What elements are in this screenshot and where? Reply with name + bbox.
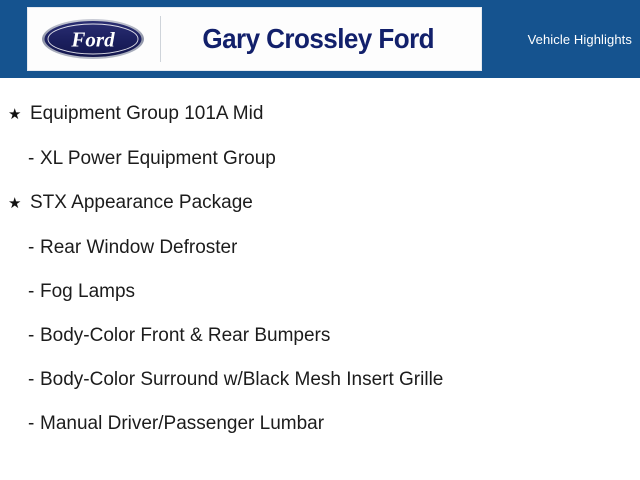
dash-bullet-icon: - [28,235,40,261]
dash-bullet-icon: - [28,323,40,349]
dealer-name: Gary Crossley Ford [172,23,470,55]
highlight-item-label: STX Appearance Package [30,190,253,216]
highlight-item-label: Fog Lamps [40,279,135,305]
dash-bullet-icon: - [28,411,40,437]
brand-logo-card: Ford Gary Crossley Ford [27,7,482,71]
highlight-item: -Body-Color Front & Rear Bumpers [0,314,640,358]
highlight-item: -Rear Window Defroster [0,226,640,270]
dash-bullet-icon: - [28,279,40,305]
highlight-item: ★Equipment Group 101A Mid [0,92,640,137]
star-bullet-icon: ★ [8,102,30,128]
highlight-item-label: Equipment Group 101A Mid [30,101,263,127]
highlight-item: -Fog Lamps [0,270,640,314]
highlight-item-label: Manual Driver/Passenger Lumbar [40,411,324,437]
ford-oval-logo-icon: Ford [28,18,158,60]
dash-bullet-icon: - [28,367,40,393]
highlights-content: ★Equipment Group 101A Mid-XL Power Equip… [0,78,640,446]
highlight-item-label: Body-Color Front & Rear Bumpers [40,323,330,349]
page-header: Ford Gary Crossley Ford Vehicle Highligh… [0,0,640,78]
vehicle-highlights-list: ★Equipment Group 101A Mid-XL Power Equip… [0,92,640,446]
svg-text:Ford: Ford [70,28,115,52]
dash-bullet-icon: - [28,146,40,172]
highlight-item: -Body-Color Surround w/Black Mesh Insert… [0,358,640,402]
highlight-item: -XL Power Equipment Group [0,137,640,181]
highlight-item: -Manual Driver/Passenger Lumbar [0,402,640,446]
star-bullet-icon: ★ [8,191,30,217]
highlight-item-label: XL Power Equipment Group [40,146,276,172]
vehicle-highlights-label: Vehicle Highlights [528,0,632,78]
highlight-item: ★STX Appearance Package [0,181,640,226]
highlight-item-label: Rear Window Defroster [40,235,237,261]
logo-divider [160,16,161,62]
highlight-item-label: Body-Color Surround w/Black Mesh Insert … [40,367,443,393]
